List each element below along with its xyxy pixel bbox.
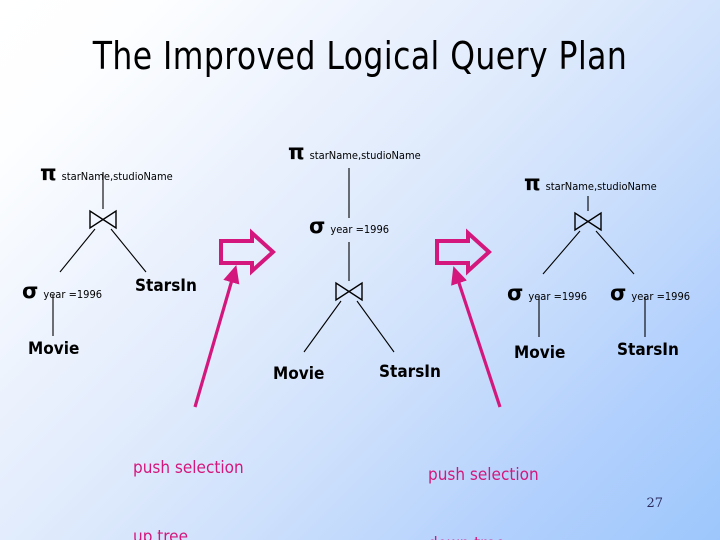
pi-icon: π: [40, 163, 57, 184]
edge-join-to-selection-left: [60, 229, 95, 272]
transform-arrow-right: [437, 233, 489, 271]
sigma-icon: σ: [610, 283, 626, 304]
sigma-icon: σ: [309, 216, 325, 237]
right-plan-projection-subscript: starName,studioName: [546, 180, 657, 193]
sigma-icon: σ: [507, 283, 523, 304]
left-plan-relation-movie[interactable]: Movie: [28, 339, 79, 359]
pointer-line-left: [195, 273, 234, 407]
edge-join-to-selection-starsin-right: [596, 231, 634, 274]
edge-join-to-starsin-middle: [357, 301, 394, 352]
annotation-push-selection-down: push selection down tree: [428, 418, 539, 540]
pointer-line-right: [456, 274, 500, 407]
left-plan-selection-movie[interactable]: σ year =1996: [22, 281, 102, 302]
middle-plan-projection[interactable]: π starName,studioName: [288, 142, 421, 163]
transform-arrow-left: [221, 233, 273, 271]
join-symbol-middle: [336, 283, 362, 300]
page-title: The Improved Logical Query Plan: [29, 34, 691, 78]
right-plan-selection-starsin-subscript: year =1996: [631, 290, 690, 303]
right-plan-relation-starsin[interactable]: StarsIn: [617, 340, 679, 360]
pi-icon: π: [288, 142, 305, 163]
right-plan-projection[interactable]: π starName,studioName: [524, 173, 657, 194]
middle-plan-selection[interactable]: σ year =1996: [309, 216, 389, 237]
left-plan-projection-subscript: starName,studioName: [62, 170, 173, 183]
annotation-push-selection-down-line1: push selection: [428, 464, 539, 487]
middle-plan-projection-subscript: starName,studioName: [310, 149, 421, 162]
edge-join-to-selection-movie-right: [543, 231, 580, 274]
annotation-push-selection-up-line1: push selection: [133, 457, 244, 480]
annotation-push-selection-down-line2: down tree: [428, 533, 539, 540]
annotation-push-selection-up: push selection up tree: [133, 411, 244, 540]
sigma-icon: σ: [22, 281, 38, 302]
diagram-vector-layer: [0, 0, 720, 540]
join-symbol-left: [90, 211, 116, 228]
edge-join-to-starsin-left: [111, 229, 146, 272]
middle-plan-relation-starsin[interactable]: StarsIn: [379, 362, 441, 382]
right-plan-selection-starsin[interactable]: σ year =1996: [610, 283, 690, 304]
page-number: 27: [646, 496, 663, 511]
right-plan-relation-movie[interactable]: Movie: [514, 343, 565, 363]
slide-canvas: The Improved Logical Query Plan: [0, 0, 720, 540]
left-plan-projection[interactable]: π starName,studioName: [40, 163, 173, 184]
middle-plan-relation-movie[interactable]: Movie: [273, 364, 324, 384]
edge-join-to-movie-middle: [304, 301, 341, 352]
annotation-push-selection-up-line2: up tree: [133, 526, 244, 540]
right-plan-selection-movie[interactable]: σ year =1996: [507, 283, 587, 304]
pi-icon: π: [524, 173, 541, 194]
right-plan-selection-movie-subscript: year =1996: [528, 290, 587, 303]
left-plan-relation-starsin[interactable]: StarsIn: [135, 276, 197, 296]
middle-plan-selection-subscript: year =1996: [330, 223, 389, 236]
left-plan-selection-subscript: year =1996: [43, 288, 102, 301]
join-symbol-right: [575, 213, 601, 230]
